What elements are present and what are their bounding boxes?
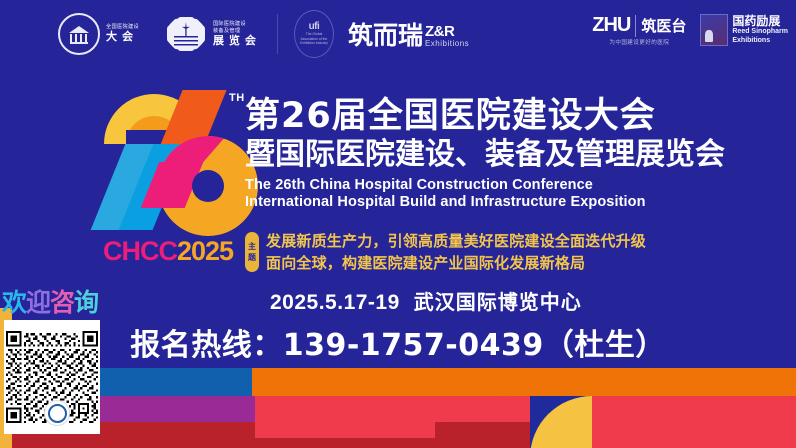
welcome-char-2: 迎 — [26, 288, 50, 317]
event-titles: 第26届全国医院建设大会 暨国际医院建设、装备及管理展览会 The 26th C… — [245, 96, 785, 211]
qr-center-logo — [44, 400, 70, 426]
number-26-graphic — [100, 86, 250, 226]
event-date: 2025.5.17-19 — [270, 291, 400, 315]
qr-contact-panel: 欢迎咨询 — [0, 286, 104, 448]
welcome-char-4: 询 — [74, 288, 98, 317]
decorative-color-bands — [0, 368, 796, 448]
theme-badge: 主 题 — [245, 232, 259, 272]
theme-badge-char-2: 题 — [248, 252, 256, 263]
ordinal-superscript: TH — [229, 92, 245, 104]
title-cn-primary: 第26届全国医院建设大会 — [245, 96, 785, 136]
zhuyitai-cn: 筑医台 — [641, 18, 686, 34]
theme-block: 主 题 发展新质生产力，引领高质量美好医院建设全面迭代升级 面向全球，构建医院建… — [245, 230, 646, 274]
registration-hotline: 报名热线：139-1757-0439（杜生） — [0, 320, 796, 364]
zr-logo-en: Z&R — [425, 24, 469, 39]
zr-logo-cn: 筑而瑞 — [348, 16, 423, 52]
promotional-poster: 全国医院建设 大会 国际医院建设 装备及管理 展览会 ufi The Globa… — [0, 0, 796, 448]
logo-divider-1 — [277, 14, 278, 54]
zhu-mark: ZHU — [592, 14, 630, 37]
chcc-wordmark-year: 2025 — [177, 236, 233, 266]
title-en-primary: The 26th China Hospital Construction Con… — [245, 177, 785, 194]
sinopharm-emblem-icon — [700, 14, 728, 46]
sinopharm-logo: 国药励展 Reed Sinopharm Exhibitions — [700, 14, 788, 46]
welcome-char-3: 咨 — [50, 288, 74, 317]
organizer-logo-exhibition: 国际医院建设 装备及管理 展览会 — [165, 13, 261, 55]
band-orange — [252, 368, 796, 396]
qr-code-icon[interactable] — [4, 320, 100, 434]
title-cn-secondary: 暨国际医院建设、装备及管理展览会 — [245, 136, 785, 173]
partner-logos: ZHU 筑医台 为中国建设更好的医院 国药励展 Reed Sinopharm E… — [592, 14, 788, 46]
decor-red-right — [592, 396, 796, 448]
poster-main-area: TH CHCC2025 第26届全国医院建设大会 暨国际医院建设、装备及管理展览… — [0, 68, 796, 368]
organizer-logo-conference: 全国医院建设 大会 — [58, 13, 139, 55]
chcc-26-logo: TH CHCC2025 — [95, 86, 260, 286]
logo-divider-2 — [635, 15, 636, 37]
chcc-wordmark: CHCC2025 — [103, 236, 233, 267]
band-dark-red-lower — [255, 438, 435, 448]
ufi-mark: ufi — [309, 22, 320, 32]
theme-badge-char-1: 主 — [248, 241, 256, 252]
event-venue: 武汉国际博览中心 — [414, 286, 582, 315]
exhibition-logo-subtitle-1: 国际医院建设 — [213, 21, 261, 28]
top-logo-bar: 全国医院建设 大会 国际医院建设 装备及管理 展览会 ufi The Globa… — [0, 0, 796, 68]
building-seal-icon — [58, 13, 100, 55]
zr-logo-en-sub: Exhibitions — [425, 39, 469, 49]
conference-logo-subtitle: 全国医院建设 — [106, 24, 139, 31]
conference-logo-title: 大会 — [106, 31, 139, 44]
ufi-badge-icon: ufi The Global Association of the Exhibi… — [294, 10, 334, 58]
exhibition-logo-subtitle-2: 装备及管理 — [213, 28, 261, 35]
flower-expo-icon — [165, 13, 207, 55]
event-date-venue: 2025.5.17-19 武汉国际博览中心 — [270, 286, 582, 315]
sinopharm-en-1: Reed Sinopharm — [732, 28, 788, 37]
sinopharm-en-2: Exhibitions — [732, 37, 788, 46]
title-en-secondary: International Hospital Build and Infrast… — [245, 194, 785, 211]
chcc-wordmark-prefix: CHCC — [103, 236, 177, 266]
theme-line-1: 发展新质生产力，引领高质量美好医院建设全面迭代升级 — [266, 230, 646, 252]
zr-exhibitions-logo: 筑而瑞 Z&R Exhibitions — [348, 16, 469, 52]
welcome-text: 欢迎咨询 — [2, 286, 104, 320]
ufi-caption: The Global Association of the Exhibition… — [297, 32, 331, 45]
zhuyitai-logo: ZHU 筑医台 为中国建设更好的医院 — [592, 14, 686, 46]
welcome-char-1: 欢 — [2, 288, 26, 317]
zhuyitai-slogan: 为中国建设更好的医院 — [592, 38, 686, 46]
sinopharm-cn: 国药励展 — [732, 15, 788, 28]
theme-line-2: 面向全球，构建医院建设产业国际化发展新格局 — [266, 252, 646, 274]
exhibition-logo-title: 展览会 — [213, 35, 261, 48]
